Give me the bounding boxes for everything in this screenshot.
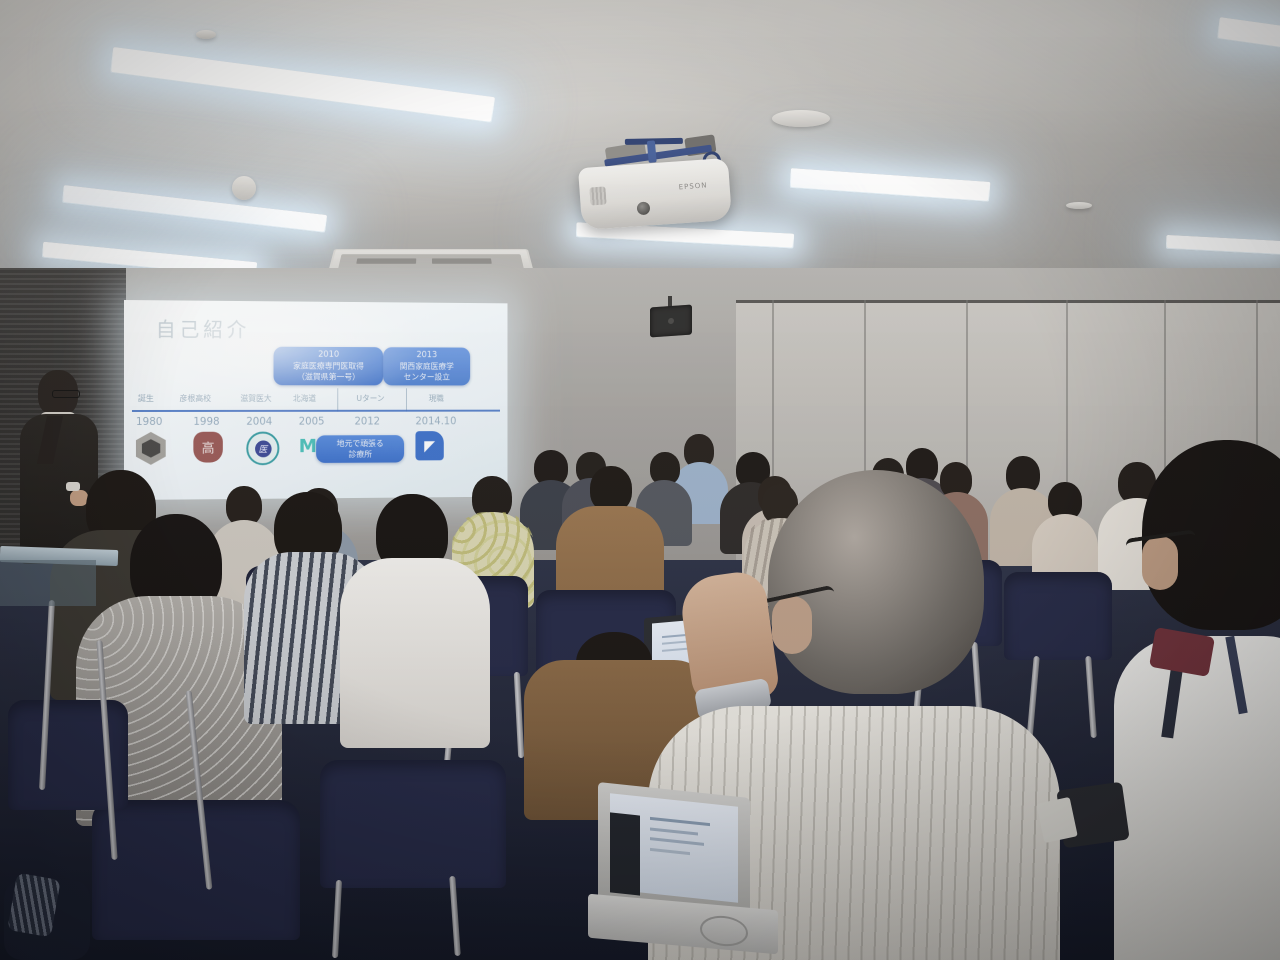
chair-leg	[514, 672, 524, 758]
audience-group	[0, 0, 1280, 960]
lecture-room-photo: EPSON 自己紹介 2010 家庭医療専門医取得 （滋賀県第一号） 2013 …	[0, 0, 1280, 960]
audience-body	[340, 558, 490, 748]
presenter-cuff	[66, 482, 80, 491]
presenter-glasses-icon	[52, 390, 80, 398]
elderly-head	[768, 470, 984, 694]
chair-leg	[1085, 656, 1097, 738]
man-white-coat-right	[1124, 440, 1280, 960]
chair-leg	[332, 880, 342, 958]
laptop-sidebar	[610, 812, 640, 895]
white-coat-body	[1114, 636, 1280, 960]
chair[interactable]	[92, 800, 300, 940]
front-desk-side	[0, 560, 96, 606]
laptop-foreground[interactable]	[588, 790, 778, 960]
chair[interactable]	[320, 760, 506, 888]
